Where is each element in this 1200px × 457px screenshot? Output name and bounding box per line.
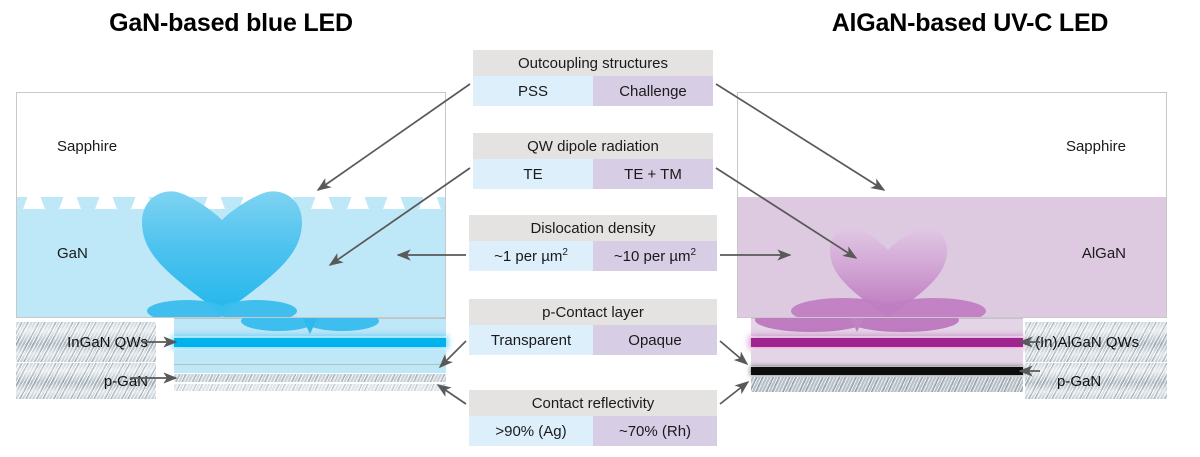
connector-arrows xyxy=(0,0,1200,457)
diagram-canvas: GaN-based blue LED AlGaN-based UV-C LED … xyxy=(0,0,1200,457)
